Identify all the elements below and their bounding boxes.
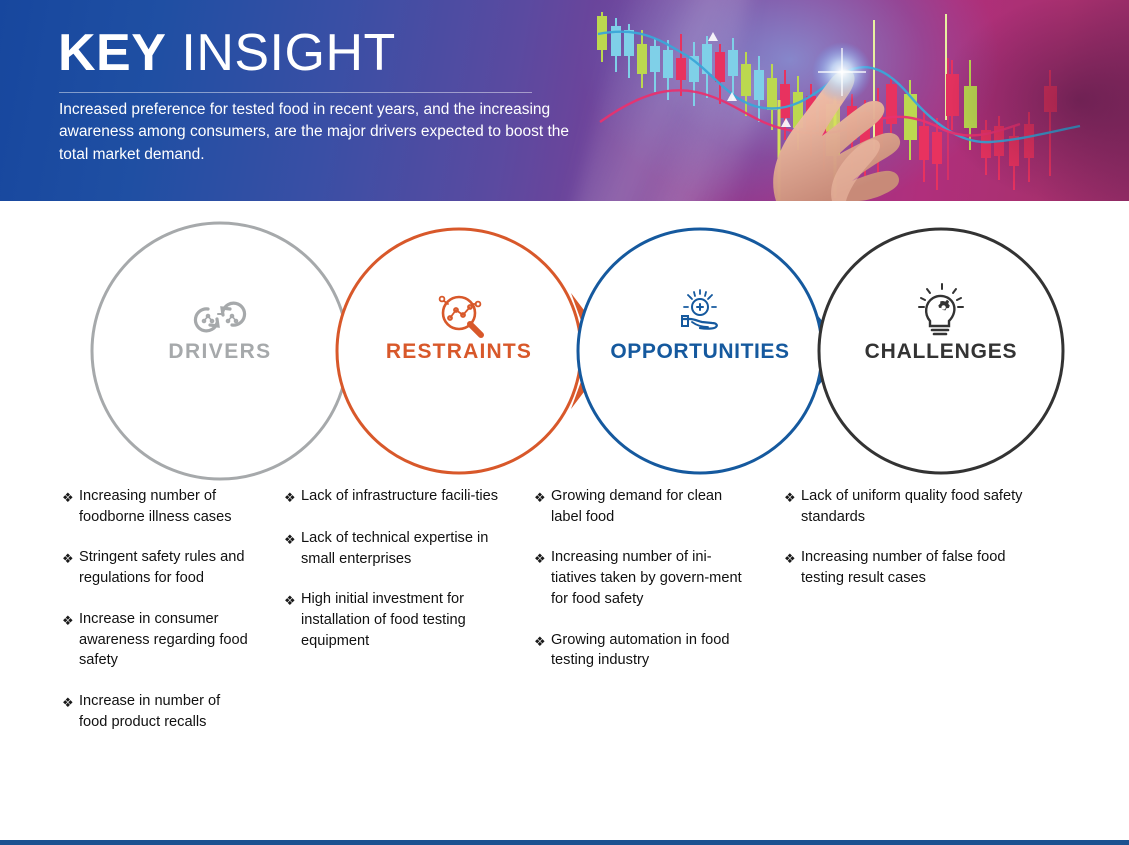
bullet-marker-icon: ❖ (284, 486, 301, 508)
list-item: ❖ Increase in consumer awareness regardi… (62, 609, 252, 671)
page-title-bold: KEY (58, 24, 166, 82)
list-item: ❖ Growing demand for clean label food (534, 486, 752, 527)
list-item-text: Increase in number of food product recal… (79, 691, 252, 732)
list-item: ❖ Increase in number of food product rec… (62, 691, 252, 732)
stage-label-restraints: RESTRAINTS (386, 340, 532, 363)
bullet-marker-icon: ❖ (62, 547, 79, 569)
list-item-text: Increase in consumer awareness regarding… (79, 609, 252, 671)
bullet-marker-icon: ❖ (62, 609, 79, 631)
bullet-marker-icon: ❖ (534, 486, 551, 508)
list-item-text: High initial investment for installation… (301, 589, 502, 651)
list-item-text: Lack of technical expertise in small ent… (301, 528, 502, 569)
bullet-marker-icon: ❖ (62, 691, 79, 713)
page-title-light: INSIGHT (181, 24, 395, 82)
bullet-marker-icon: ❖ (62, 486, 79, 508)
list-item-text: Growing demand for clean label food (551, 486, 752, 527)
bullet-marker-icon: ❖ (534, 547, 551, 569)
page-title: KEY INSIGHT (58, 26, 396, 81)
list-item: ❖ Stringent safety rules and regulations… (62, 547, 252, 588)
bullet-marker-icon: ❖ (284, 589, 301, 611)
stage-flow-diagram: DRIVERS RESTRAINTS (0, 201, 1129, 501)
list-item-text: Increasing number of false food testing … (801, 547, 1042, 588)
header-subtitle: Increased preference for tested food in … (59, 99, 599, 166)
stage-label-opportunities: OPPORTUNITIES (610, 340, 789, 363)
footer-divider (0, 840, 1129, 845)
bullet-marker-icon: ❖ (284, 528, 301, 550)
list-item-text: Increasing number of foodborne illness c… (79, 486, 252, 527)
list-item: ❖ Growing automation in food testing ind… (534, 630, 752, 671)
list-item: ❖ High initial investment for installati… (284, 589, 502, 651)
list-item-text: Stringent safety rules and regulations f… (79, 547, 252, 588)
header-banner: KEY INSIGHT Increased preference for tes… (0, 0, 1129, 201)
list-item: ❖ Lack of technical expertise in small e… (284, 528, 502, 569)
list-item: ❖ Increasing number of ini-tiatives take… (534, 547, 752, 609)
list-item-text: Lack of infrastructure facili-ties (301, 486, 502, 507)
list-item-text: Lack of uniform quality food safety stan… (801, 486, 1042, 527)
stage-label-challenges: CHALLENGES (865, 340, 1018, 363)
flow-svg: DRIVERS RESTRAINTS (0, 201, 1129, 501)
title-divider (59, 92, 532, 93)
list-item: ❖ Increasing number of false food testin… (784, 547, 1042, 588)
stage-detail-columns: ❖ Increasing number of foodborne illness… (0, 486, 1129, 752)
list-item-text: Increasing number of ini-tiatives taken … (551, 547, 752, 609)
column-challenges: ❖ Lack of uniform quality food safety st… (762, 486, 1052, 752)
list-item: ❖ Increasing number of foodborne illness… (62, 486, 252, 527)
list-item: ❖ Lack of infrastructure facili-ties (284, 486, 502, 508)
bullet-marker-icon: ❖ (534, 630, 551, 652)
bullet-marker-icon: ❖ (784, 486, 801, 508)
column-drivers: ❖ Increasing number of foodborne illness… (0, 486, 262, 752)
column-opportunities: ❖ Growing demand for clean label food ❖ … (512, 486, 762, 752)
bullet-marker-icon: ❖ (784, 547, 801, 569)
header-stock-chart-graphic (580, 0, 1129, 201)
stage-label-drivers: DRIVERS (168, 340, 271, 363)
list-item-text: Growing automation in food testing indus… (551, 630, 752, 671)
list-item: ❖ Lack of uniform quality food safety st… (784, 486, 1042, 527)
column-restraints: ❖ Lack of infrastructure facili-ties ❖ L… (262, 486, 512, 752)
